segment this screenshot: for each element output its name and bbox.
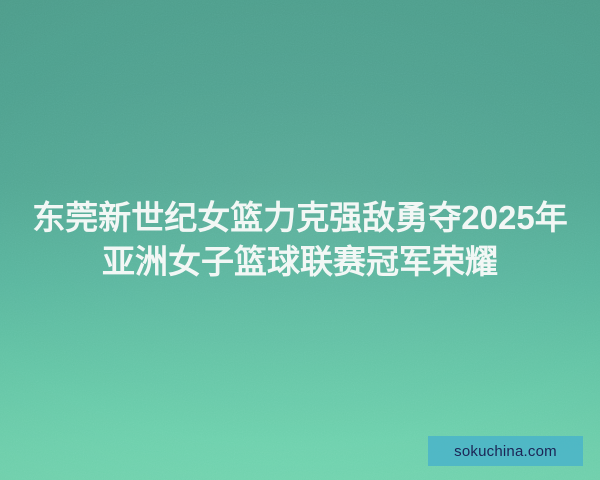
watermark-label: sokuchina.com — [454, 444, 557, 459]
watermark-badge: sokuchina.com — [428, 436, 583, 466]
article-banner: 东莞新世纪女篮力克强敌勇夺2025年亚洲女子篮球联赛冠军荣耀 sokuchina… — [0, 0, 600, 480]
banner-headline: 东莞新世纪女篮力克强敌勇夺2025年亚洲女子篮球联赛冠军荣耀 — [30, 196, 570, 284]
headline-container: 东莞新世纪女篮力克强敌勇夺2025年亚洲女子篮球联赛冠军荣耀 — [0, 196, 600, 284]
